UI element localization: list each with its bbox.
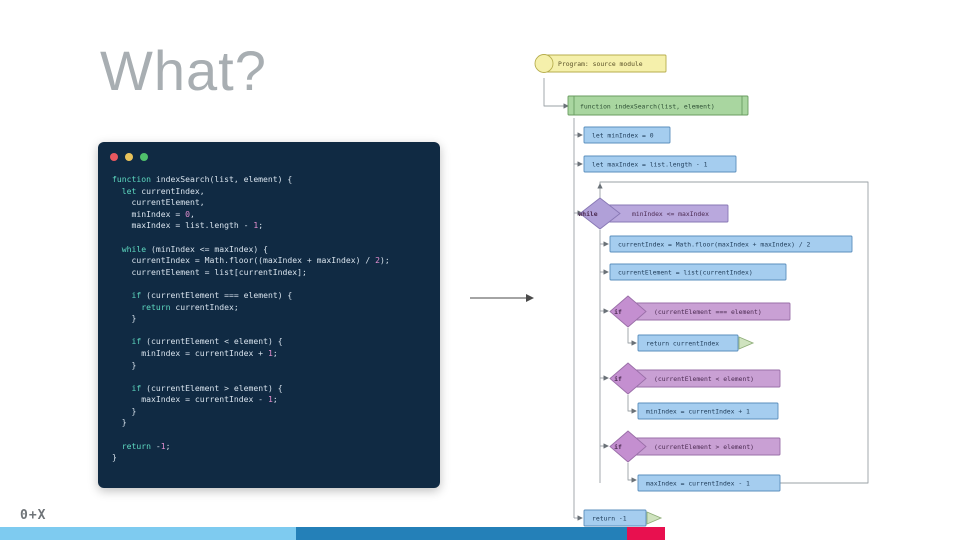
- minimize-dot-icon[interactable]: [125, 153, 133, 161]
- maximize-dot-icon[interactable]: [140, 153, 148, 161]
- node-min-index-assign[interactable]: minIndex = currentIndex + 1: [638, 403, 778, 419]
- node-current-index-assign[interactable]: currentIndex = Math.floor(maxIndex + max…: [610, 236, 852, 252]
- node-function-label: function indexSearch(list, element): [580, 103, 715, 111]
- flowchart-diagram: Program: source module function indexSea…: [528, 48, 948, 530]
- node-if-greater-than-keyword: if: [614, 443, 622, 451]
- node-let-min-index-label: let minIndex = 0: [592, 132, 654, 140]
- segment-red: [627, 527, 665, 540]
- code-block: function indexSearch(list, element) { le…: [112, 174, 434, 464]
- node-max-index-assign[interactable]: maxIndex = currentIndex - 1: [638, 475, 780, 491]
- node-let-max-index[interactable]: let maxIndex = list.length - 1: [584, 156, 736, 172]
- node-return-minus-one[interactable]: return -1: [584, 510, 661, 526]
- node-if-less-than-keyword: if: [614, 375, 622, 383]
- footer-logo: 0+X: [20, 508, 46, 523]
- node-if-greater-than[interactable]: if (currentElement > element): [610, 431, 780, 462]
- node-current-element-assign[interactable]: currentElement = list(currentIndex): [610, 264, 786, 280]
- right-arrow-icon: [470, 288, 535, 308]
- node-max-index-assign-label: maxIndex = currentIndex - 1: [646, 480, 750, 488]
- node-return-current-index[interactable]: return currentIndex: [638, 335, 753, 351]
- node-if-less-than[interactable]: if (currentElement < element): [610, 363, 780, 394]
- segment-dark-blue: [296, 527, 627, 540]
- node-if-greater-than-condition: (currentElement > element): [654, 443, 754, 451]
- node-return-current-index-label: return currentIndex: [646, 340, 719, 348]
- node-if-equals[interactable]: if (currentElement === element): [610, 296, 790, 327]
- node-if-less-than-condition: (currentElement < element): [654, 375, 754, 383]
- node-min-index-assign-label: minIndex = currentIndex + 1: [646, 408, 750, 416]
- node-if-equals-keyword: if: [614, 308, 622, 316]
- segment-empty: [665, 527, 960, 540]
- window-controls: [110, 153, 148, 161]
- node-function[interactable]: function indexSearch(list, element): [568, 96, 748, 115]
- node-let-max-index-label: let maxIndex = list.length - 1: [592, 161, 708, 169]
- node-let-min-index[interactable]: let minIndex = 0: [584, 127, 670, 143]
- progress-bar[interactable]: [0, 527, 960, 540]
- node-while-keyword: while: [578, 210, 597, 218]
- close-dot-icon[interactable]: [110, 153, 118, 161]
- node-current-element-assign-label: currentElement = list(currentIndex): [618, 269, 753, 277]
- page-title: What?: [100, 38, 267, 103]
- node-if-equals-condition: (currentElement === element): [654, 308, 762, 316]
- segment-light-blue: [0, 527, 296, 540]
- code-window: function indexSearch(list, element) { le…: [98, 142, 440, 488]
- node-while-condition: minIndex <= maxIndex: [632, 210, 709, 218]
- node-while[interactable]: while minIndex <= maxIndex: [578, 198, 728, 229]
- node-current-index-assign-label: currentIndex = Math.floor(maxIndex + max…: [618, 241, 811, 249]
- node-start-label: Program: source module: [558, 60, 643, 68]
- node-return-minus-one-label: return -1: [592, 515, 627, 523]
- node-start[interactable]: Program: source module: [535, 55, 666, 73]
